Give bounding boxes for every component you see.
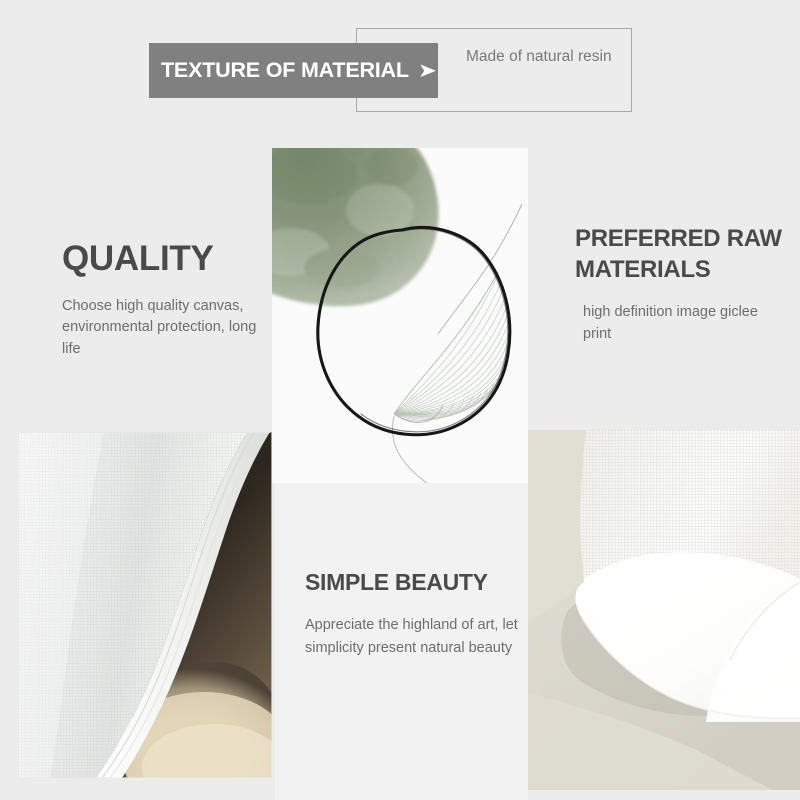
simple-beauty-heading: SIMPLE BEAUTY (305, 570, 520, 595)
preferred-body: high definition image giclee print (583, 301, 790, 345)
simple-beauty-body: Appreciate the highland of art, let simp… (305, 614, 520, 659)
canvas-roll-image (18, 432, 272, 778)
canvas-curl-photo (528, 430, 800, 790)
header-banner: TEXTURE OF MATERIAL ➤ (149, 43, 438, 98)
abstract-botanical-artwork (272, 148, 528, 483)
arrow-right-icon: ➤ (418, 61, 437, 81)
preferred-text-block: PREFERRED RAW MATERIALS high definition … (575, 224, 790, 346)
simple-beauty-text-block: SIMPLE BEAUTY Appreciate the highland of… (305, 570, 520, 659)
preferred-heading: PREFERRED RAW MATERIALS (575, 224, 790, 285)
quality-text-block: QUALITY Choose high quality canvas, envi… (62, 240, 272, 361)
artwork-card (272, 148, 528, 483)
product-infographic-page: TEXTURE OF MATERIAL ➤ Made of natural re… (0, 0, 800, 800)
canvas-curl-image (528, 430, 800, 790)
quality-heading: QUALITY (62, 240, 272, 279)
quality-body: Choose high quality canvas, environmenta… (62, 296, 272, 361)
canvas-roll-photo (18, 432, 272, 778)
header-note-text: Made of natural resin (466, 45, 626, 68)
banner-title: TEXTURE OF MATERIAL (161, 58, 409, 83)
